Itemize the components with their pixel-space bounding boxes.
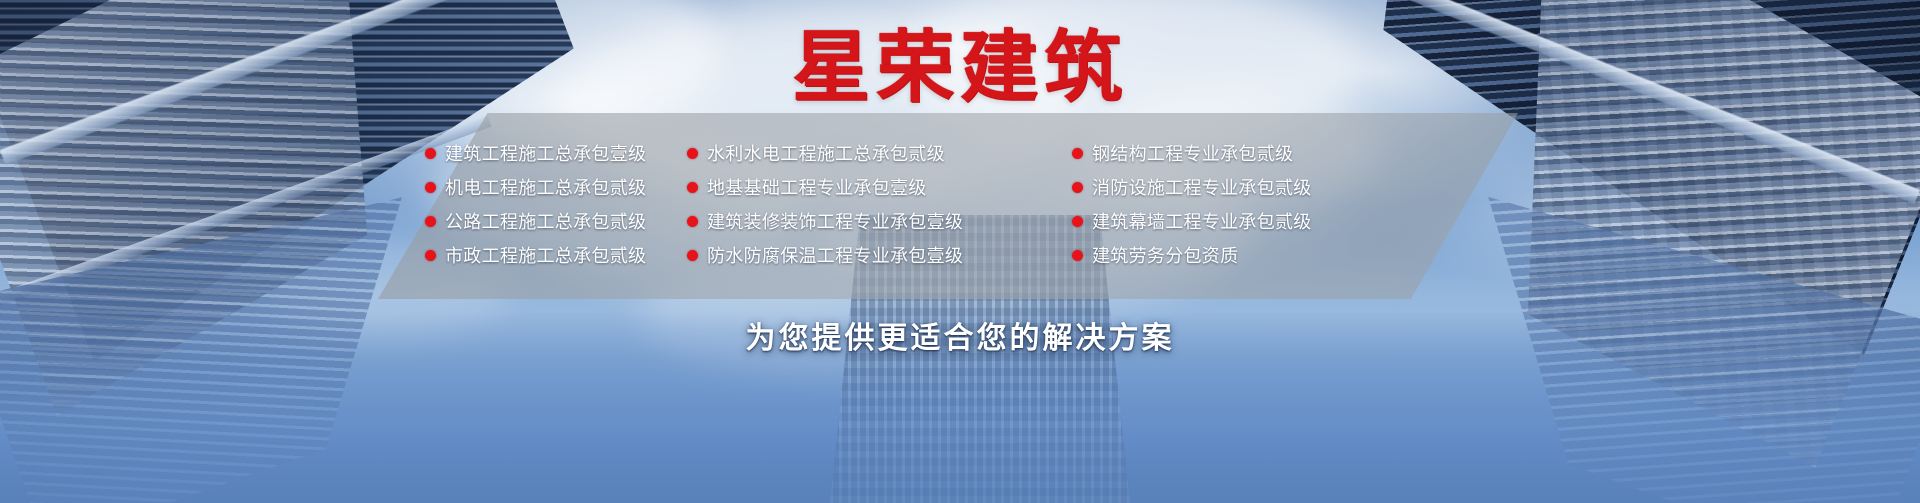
qualification-column-2: 水利水电工程施工总承包贰级 地基基础工程专业承包壹级 建筑装修装饰工程专业承包壹…	[687, 143, 1032, 299]
list-item: 市政工程施工总承包贰级	[425, 245, 675, 265]
qualification-label: 建筑劳务分包资质	[1092, 242, 1238, 268]
list-item: 建筑工程施工总承包壹级	[425, 143, 675, 163]
qualification-label: 公路工程施工总承包贰级	[445, 208, 646, 234]
qualification-label: 建筑装修装饰工程专业承包壹级	[707, 208, 963, 234]
list-item: 钢结构工程专业承包贰级	[1072, 143, 1372, 163]
list-item: 机电工程施工总承包贰级	[425, 177, 675, 197]
list-item: 地基基础工程专业承包壹级	[687, 177, 1032, 197]
qualification-label: 防水防腐保温工程专业承包壹级	[707, 242, 963, 268]
bullet-dot-icon	[425, 148, 436, 159]
qualification-label: 消防设施工程专业承包贰级	[1092, 174, 1312, 200]
qualification-label: 地基基础工程专业承包壹级	[707, 174, 927, 200]
bullet-dot-icon	[425, 182, 436, 193]
bullet-dot-icon	[687, 182, 698, 193]
list-item: 消防设施工程专业承包贰级	[1072, 177, 1372, 197]
bullet-dot-icon	[425, 216, 436, 227]
bullet-dot-icon	[425, 250, 436, 261]
list-item: 建筑劳务分包资质	[1072, 245, 1372, 265]
bullet-dot-icon	[1072, 148, 1083, 159]
qualification-label: 水利水电工程施工总承包贰级	[707, 140, 945, 166]
tagline-text: 为您提供更适合您的解决方案	[0, 313, 1920, 357]
list-item: 建筑装修装饰工程专业承包壹级	[687, 211, 1032, 231]
list-item: 水利水电工程施工总承包贰级	[687, 143, 1032, 163]
bullet-dot-icon	[1072, 250, 1083, 261]
qualification-label: 市政工程施工总承包贰级	[445, 242, 646, 268]
bullet-dot-icon	[687, 250, 698, 261]
company-title: 星荣建筑	[0, 28, 1920, 106]
list-item: 公路工程施工总承包贰级	[425, 211, 675, 231]
hero-banner: 星荣建筑 建筑工程施工总承包壹级 机电工程施工总承包贰级 公路工程施工总承包贰级…	[0, 0, 1920, 503]
bullet-dot-icon	[687, 148, 698, 159]
list-item: 建筑幕墙工程专业承包贰级	[1072, 211, 1372, 231]
bullet-dot-icon	[687, 216, 698, 227]
qualification-list: 建筑工程施工总承包壹级 机电工程施工总承包贰级 公路工程施工总承包贰级 市政工程…	[378, 113, 1518, 299]
list-item: 防水防腐保温工程专业承包壹级	[687, 245, 1032, 265]
qualification-column-3: 钢结构工程专业承包贰级 消防设施工程专业承包贰级 建筑幕墙工程专业承包贰级 建筑…	[1072, 143, 1372, 299]
qualification-label: 建筑工程施工总承包壹级	[445, 140, 646, 166]
bullet-dot-icon	[1072, 182, 1083, 193]
qualification-label: 机电工程施工总承包贰级	[445, 174, 646, 200]
qualification-label: 钢结构工程专业承包贰级	[1092, 140, 1293, 166]
qualification-column-1: 建筑工程施工总承包壹级 机电工程施工总承包贰级 公路工程施工总承包贰级 市政工程…	[425, 143, 675, 299]
bullet-dot-icon	[1072, 216, 1083, 227]
qualification-label: 建筑幕墙工程专业承包贰级	[1092, 208, 1312, 234]
